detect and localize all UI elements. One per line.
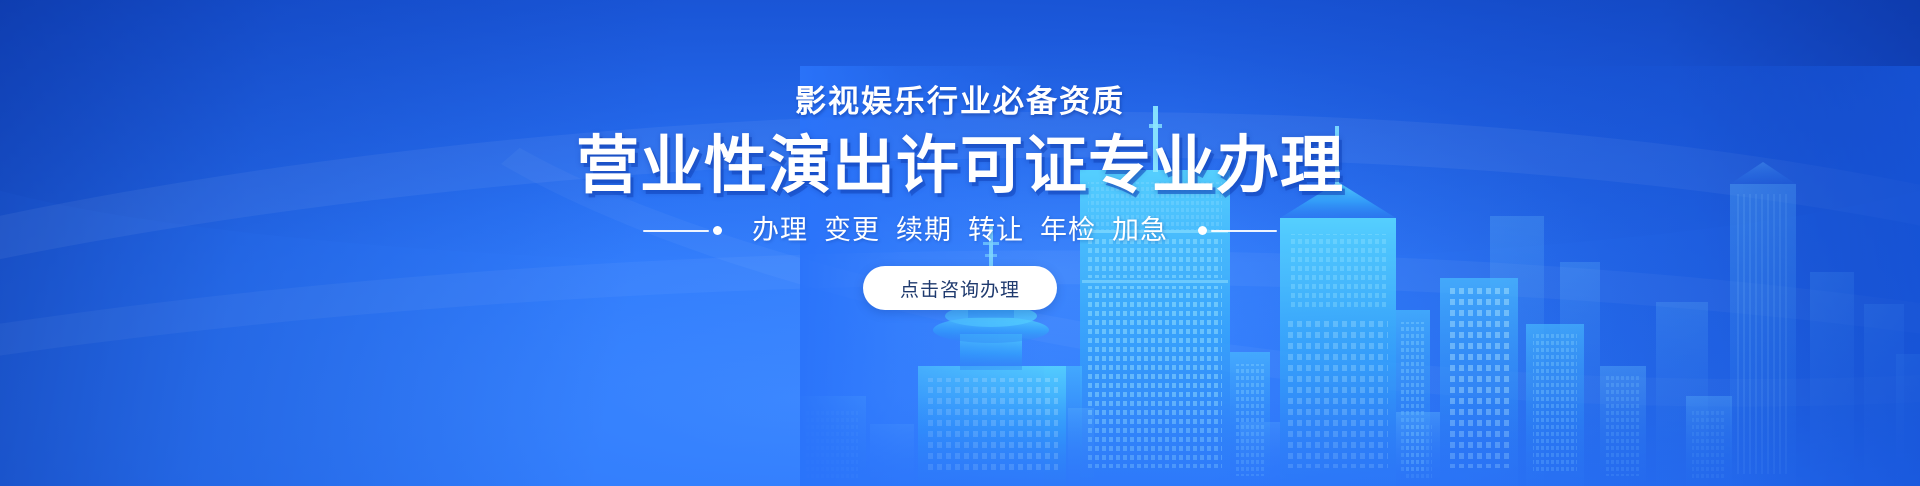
banner-content: 影视娱乐行业必备资质 营业性演出许可证专业办理 办理 变更 续期 转让 年检 加… [0,0,1920,486]
banner-headline: 营业性演出许可证专业办理 [576,133,1344,199]
right-rule-dot-icon [1198,226,1207,235]
consult-cta-button[interactable]: 点击咨询办理 [863,266,1057,310]
service-item: 年检 [1040,217,1096,244]
left-rule-decoration [643,226,722,235]
right-rule-line [1211,230,1277,232]
service-item: 变更 [824,217,880,244]
banner-subtitle: 影视娱乐行业必备资质 [795,86,1125,117]
services-list: 办理 变更 续期 转让 年检 加急 [736,217,1184,244]
service-item: 续期 [896,217,952,244]
service-item: 加急 [1112,217,1168,244]
services-row: 办理 变更 续期 转让 年检 加急 [643,217,1277,244]
right-rule-decoration [1198,226,1277,235]
service-item: 办理 [752,217,808,244]
service-item: 转让 [968,217,1024,244]
left-rule-line [643,230,709,232]
promo-banner: 影视娱乐行业必备资质 营业性演出许可证专业办理 办理 变更 续期 转让 年检 加… [0,0,1920,486]
left-rule-dot-icon [713,226,722,235]
